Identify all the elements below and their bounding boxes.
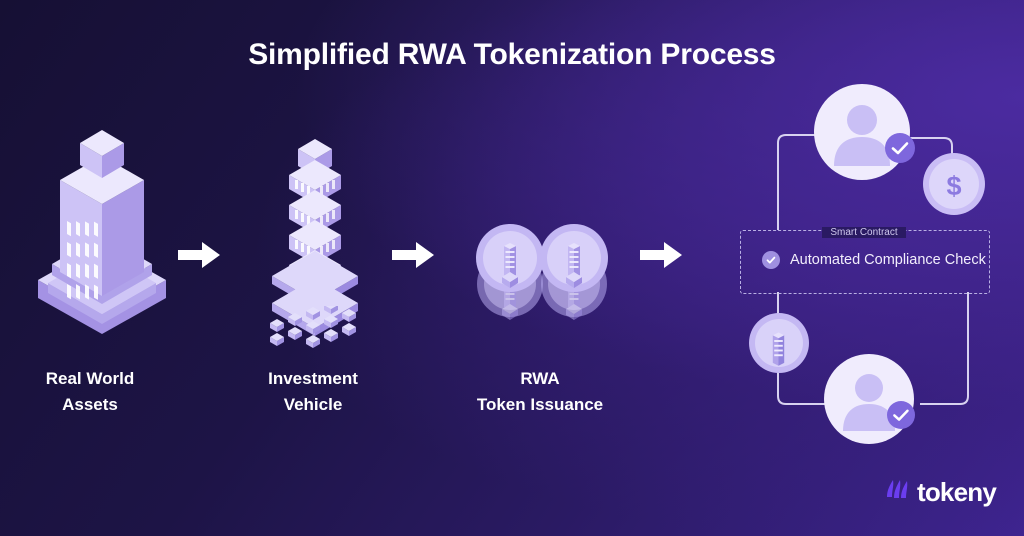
tokeny-logo: tokeny [884, 477, 996, 508]
investor-avatar-bottom [822, 352, 916, 446]
arrow-assets-to-vehicle [178, 240, 222, 270]
smart-contract-legend-label: Smart Contract [822, 227, 905, 238]
stage-label-line2: Assets [0, 392, 200, 418]
arrow-vehicle-to-tokens [392, 240, 436, 270]
token-coin [748, 312, 810, 374]
building-icon [22, 118, 182, 338]
stage-label-line1: RWA [430, 366, 650, 392]
stage-label-line1: Investment [203, 366, 423, 392]
smart-contract-legend: Smart Contract [740, 222, 988, 240]
verified-check-badge-bottom [886, 400, 916, 430]
stage-label-line1: Real World [0, 366, 200, 392]
dollar-coin: $ [922, 152, 986, 216]
stage-label-line2: Vehicle [203, 392, 423, 418]
automated-compliance-check-label: Automated Compliance Check [790, 252, 986, 268]
stage-label-line2: Token Issuance [430, 392, 650, 418]
check-circle-icon [762, 251, 780, 269]
stage-label-investment-vehicle: Investment Vehicle [203, 366, 423, 419]
verified-check-badge-top [884, 132, 916, 164]
svg-text:$: $ [946, 171, 961, 201]
small-cubes-field-icon [262, 306, 372, 350]
stage-label-real-world-assets: Real World Assets [0, 366, 200, 419]
arrow-tokens-to-distribution [640, 240, 684, 270]
stage-label-rwa-token-issuance: RWA Token Issuance [430, 366, 650, 419]
tokeny-wordmark: tokeny [917, 477, 996, 508]
infographic-canvas: Simplified RWA Tokenization Process [0, 0, 1024, 536]
page-title: Simplified RWA Tokenization Process [0, 38, 1024, 72]
tokeny-flame-mark [884, 477, 910, 508]
token-coins-icon [462, 216, 622, 326]
automated-compliance-check-row: Automated Compliance Check [762, 251, 986, 269]
